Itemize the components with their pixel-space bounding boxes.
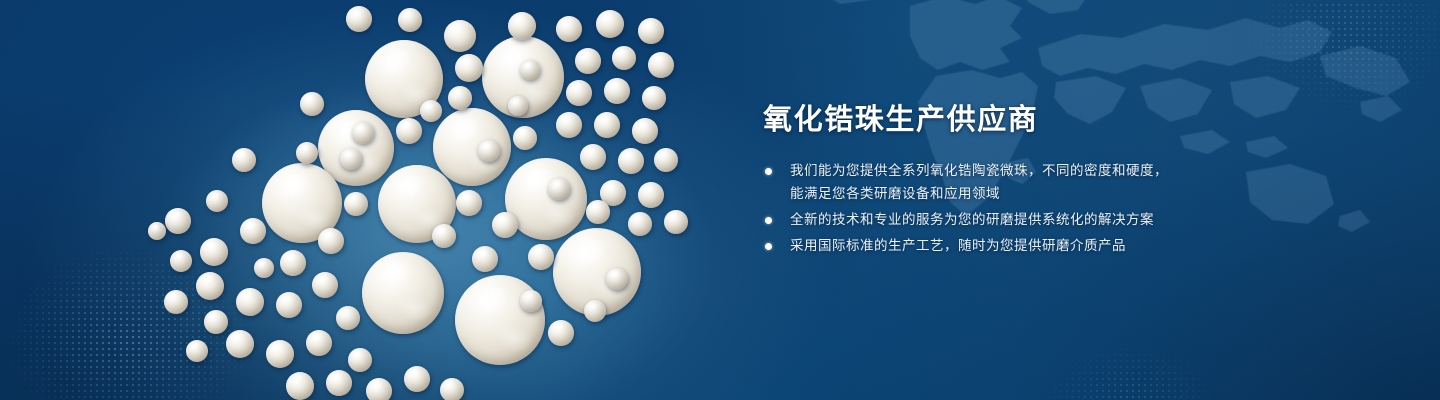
bead bbox=[580, 144, 606, 170]
list-item: 全新的技术和专业的服务为您的研磨提供系统化的解决方案 bbox=[763, 209, 1323, 232]
bead bbox=[575, 48, 601, 74]
list-item-line1: 我们能为您提供全系列氧化锆陶瓷微珠，不同的密度和硬度， bbox=[790, 163, 1168, 179]
bead bbox=[654, 148, 678, 172]
bead bbox=[596, 10, 624, 38]
bead bbox=[455, 54, 483, 82]
bead bbox=[396, 118, 422, 144]
halftone-pattern-bottom-right bbox=[1010, 280, 1270, 400]
banner-headline: 氧化锆珠生产供应商 bbox=[763, 104, 1323, 136]
bead bbox=[280, 250, 306, 276]
list-item-line2: 能满足您各类研磨设备和应用领域 bbox=[790, 183, 1323, 206]
bead bbox=[306, 330, 332, 356]
bead bbox=[286, 372, 314, 400]
bead bbox=[604, 78, 630, 104]
bead bbox=[586, 200, 610, 224]
bead bbox=[206, 190, 228, 212]
bead bbox=[362, 252, 444, 334]
bead bbox=[312, 272, 338, 298]
bead bbox=[366, 378, 392, 400]
bead bbox=[420, 100, 442, 122]
bead bbox=[196, 272, 224, 300]
bead bbox=[344, 192, 368, 216]
bead bbox=[612, 46, 636, 70]
bead bbox=[352, 122, 374, 144]
bead bbox=[478, 140, 500, 162]
bead bbox=[520, 290, 542, 312]
bead bbox=[508, 12, 536, 40]
bead bbox=[472, 246, 498, 272]
bullet-dot-icon bbox=[765, 217, 772, 224]
bead bbox=[508, 96, 528, 116]
bead bbox=[444, 20, 476, 52]
bead bbox=[448, 86, 472, 110]
bead bbox=[326, 370, 352, 396]
bead bbox=[148, 222, 166, 240]
bead bbox=[638, 18, 664, 44]
list-item-line1: 采用国际标准的生产工艺，随时为您提供研磨介质产品 bbox=[790, 238, 1126, 254]
zirconia-beads-product-image bbox=[0, 0, 760, 400]
list-item: 采用国际标准的生产工艺，随时为您提供研磨介质产品 bbox=[763, 235, 1323, 258]
bead bbox=[440, 378, 464, 400]
bead bbox=[642, 86, 666, 110]
bead bbox=[566, 80, 592, 106]
bead bbox=[648, 52, 674, 78]
bead bbox=[628, 212, 652, 236]
bead bbox=[456, 190, 482, 216]
bead bbox=[170, 250, 192, 272]
bead bbox=[432, 224, 456, 248]
bullet-dot-icon bbox=[765, 168, 772, 175]
bead bbox=[594, 112, 620, 138]
bead bbox=[404, 366, 430, 392]
bead bbox=[346, 6, 372, 32]
banner-text-block: 氧化锆珠生产供应商 我们能为您提供全系列氧化锆陶瓷微珠，不同的密度和硬度， 能满… bbox=[763, 104, 1323, 261]
bead bbox=[556, 16, 582, 42]
bead bbox=[186, 340, 208, 362]
bead bbox=[348, 348, 372, 372]
bead bbox=[296, 142, 318, 164]
bead bbox=[398, 8, 422, 32]
bead bbox=[340, 148, 362, 170]
bead bbox=[164, 290, 188, 314]
list-item-line1: 全新的技术和专业的服务为您的研磨提供系统化的解决方案 bbox=[790, 212, 1154, 228]
bead bbox=[266, 340, 294, 368]
bead bbox=[606, 268, 628, 290]
bead bbox=[556, 112, 582, 138]
list-item: 我们能为您提供全系列氧化锆陶瓷微珠，不同的密度和硬度， 能满足您各类研磨设备和应… bbox=[763, 160, 1323, 206]
promo-banner: 氧化锆珠生产供应商 我们能为您提供全系列氧化锆陶瓷微珠，不同的密度和硬度， 能满… bbox=[0, 0, 1440, 400]
bead bbox=[276, 292, 302, 318]
bead bbox=[204, 310, 228, 334]
bead bbox=[240, 218, 266, 244]
bead bbox=[200, 238, 228, 266]
bead bbox=[638, 182, 664, 208]
banner-feature-list: 我们能为您提供全系列氧化锆陶瓷微珠，不同的密度和硬度， 能满足您各类研磨设备和应… bbox=[763, 160, 1323, 258]
bead bbox=[492, 212, 518, 238]
bead bbox=[336, 306, 360, 330]
bead bbox=[232, 148, 256, 172]
bead bbox=[318, 228, 344, 254]
bead bbox=[618, 148, 644, 174]
bead bbox=[548, 320, 574, 346]
bead bbox=[300, 92, 324, 116]
bead bbox=[455, 275, 545, 365]
bead bbox=[165, 208, 191, 234]
bead bbox=[632, 118, 658, 144]
bead bbox=[664, 210, 688, 234]
bead bbox=[528, 244, 554, 270]
bead bbox=[226, 330, 254, 358]
bead bbox=[236, 288, 264, 316]
bead bbox=[254, 258, 274, 278]
bead bbox=[520, 60, 540, 80]
bullet-dot-icon bbox=[765, 243, 772, 250]
bead bbox=[584, 300, 606, 322]
bead bbox=[548, 178, 570, 200]
bead bbox=[513, 126, 537, 150]
